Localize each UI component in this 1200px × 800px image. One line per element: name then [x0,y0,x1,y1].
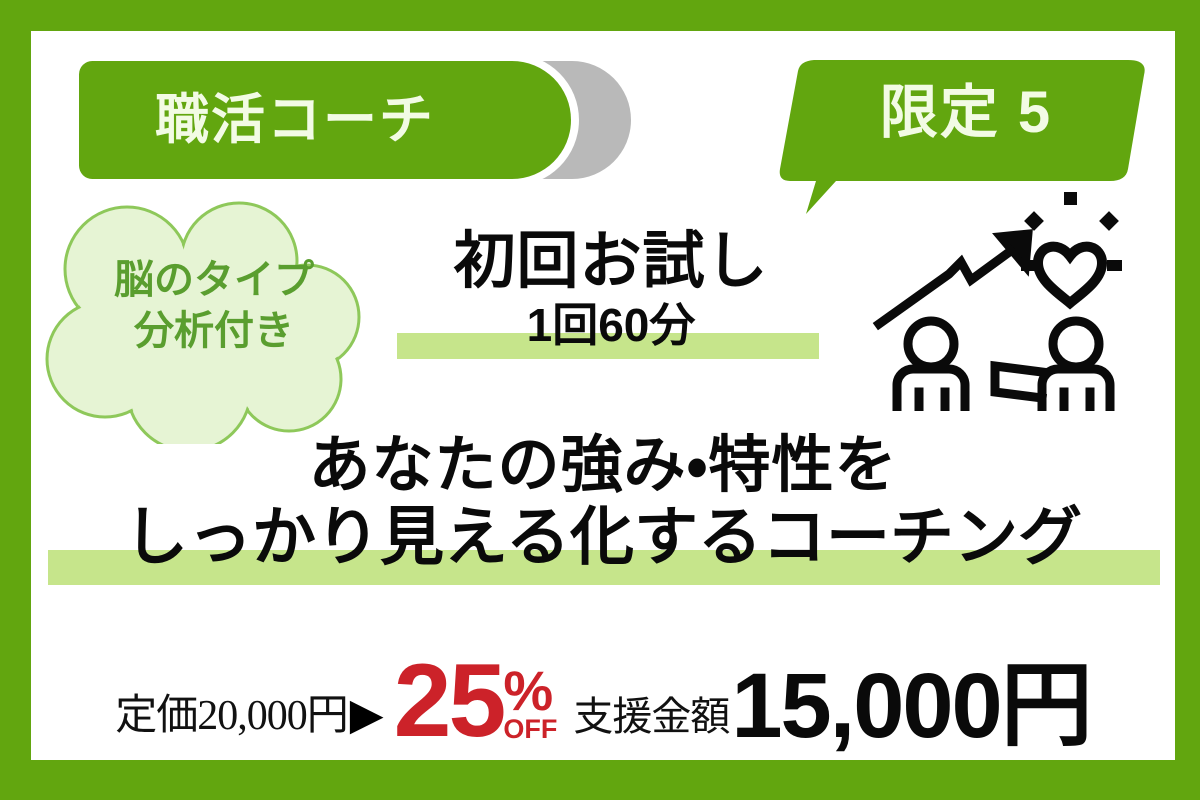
limited-ribbon-label: 限定 5 [776,81,1156,145]
trial-title: 初回お試し [361,229,861,294]
cloud-badge-line1: 脳のタイプ [39,255,389,306]
promo-banner: 職活コーチ 限定 5 [0,0,1200,800]
discount-number: 25 [394,658,504,745]
trial-offer-block: 初回お試し 1回60分 [361,229,861,364]
category-tag-label: 職活コーチ [155,93,495,147]
trial-subtitle-wrap: 1回60分 [361,300,861,364]
headline-line1: あなたの強み・特性を [31,431,1175,500]
coaching-people-arrow-heart-icon [871,176,1151,411]
banner-card: 職活コーチ 限定 5 [31,31,1175,760]
list-price-label: 定価20,000円 [115,695,348,751]
discount-percent-sign: % [503,669,553,714]
category-tag: 職活コーチ [79,61,679,179]
discount-off-label: OFF [503,716,557,743]
headline-block: あなたの強み・特性を しっかり見える化するコーチング [31,431,1175,584]
cloud-badge-line2: 分析付き [39,306,389,357]
cloud-badge: 脳のタイプ 分析付き [39,199,389,444]
headline-line2-wrap: しっかり見える化するコーチング [31,502,1175,584]
arrow-right-icon: ▶ [348,693,394,751]
discount-badge: 25 % OFF [394,658,558,751]
support-amount-label: 支援金額 [557,697,729,751]
discount-symbol-stack: % OFF [503,669,557,745]
cloud-badge-text: 脳のタイプ 分析付き [39,255,389,357]
trial-subtitle: 1回60分 [361,300,861,351]
support-amount-value: 15,000円 [729,666,1090,751]
headline-line2: しっかり見える化するコーチング [31,502,1175,574]
price-row: 定価20,000円 ▶ 25 % OFF 支援金額 15,000円 [31,621,1175,751]
category-tag-body: 職活コーチ [79,61,571,179]
